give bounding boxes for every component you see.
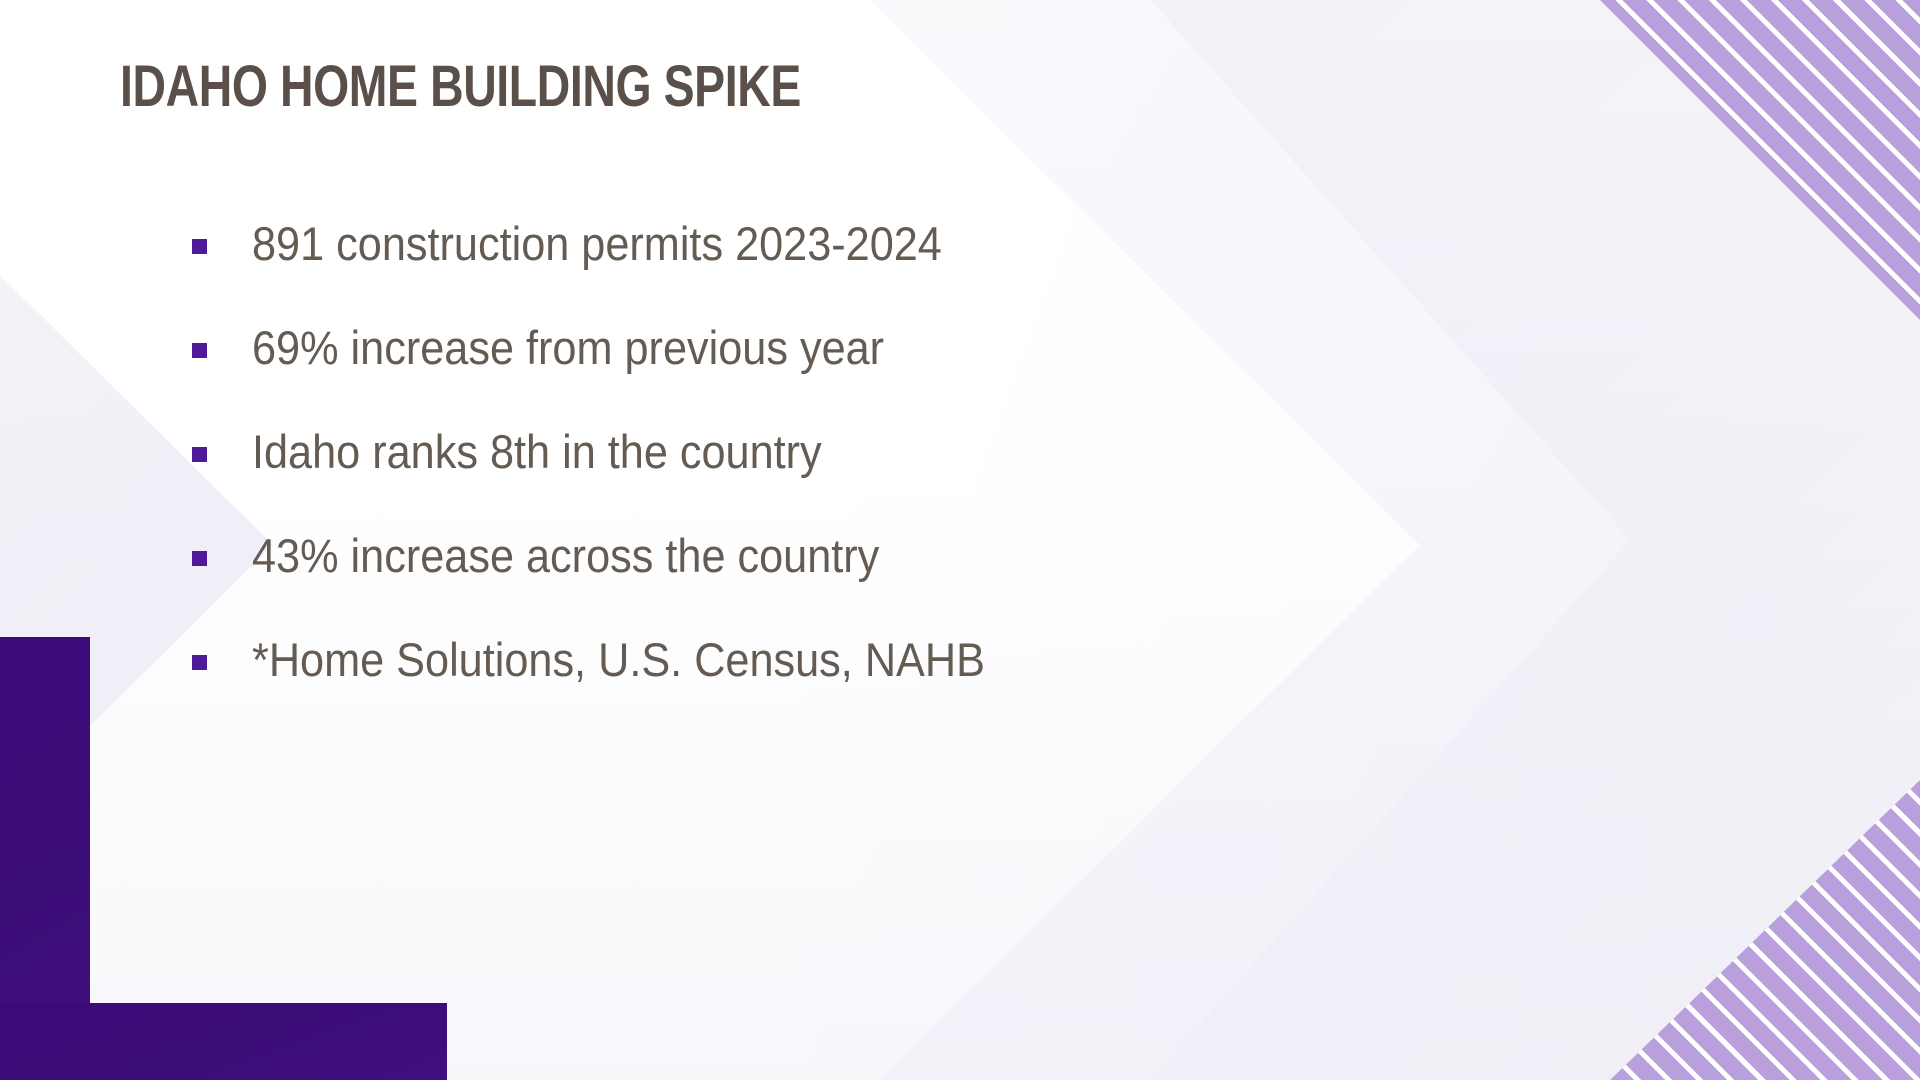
slide-content: IDAHO HOME BUILDING SPIKE 891 constructi… bbox=[0, 0, 1920, 1080]
list-item: Idaho ranks 8th in the country bbox=[192, 400, 1442, 504]
list-item-label: 69% increase from previous year bbox=[252, 322, 884, 374]
list-item: 69% increase from previous year bbox=[192, 296, 1442, 400]
list-item-label: 43% increase across the country bbox=[252, 530, 879, 582]
square-bullet-icon bbox=[192, 447, 207, 462]
square-bullet-icon bbox=[192, 655, 207, 670]
list-item-label: 891 construction permits 2023-2024 bbox=[252, 218, 942, 270]
list-item: 891 construction permits 2023-2024 bbox=[192, 192, 1442, 296]
slide-canvas: IDAHO HOME BUILDING SPIKE 891 constructi… bbox=[0, 0, 1920, 1080]
list-item: *Home Solutions, U.S. Census, NAHB bbox=[192, 608, 1442, 712]
square-bullet-icon bbox=[192, 551, 207, 566]
list-item-label: *Home Solutions, U.S. Census, NAHB bbox=[252, 634, 985, 686]
bullet-list: 891 construction permits 2023-2024 69% i… bbox=[192, 192, 1442, 712]
square-bullet-icon bbox=[192, 343, 207, 358]
list-item-label: Idaho ranks 8th in the country bbox=[252, 426, 822, 478]
list-item: 43% increase across the country bbox=[192, 504, 1442, 608]
square-bullet-icon bbox=[192, 239, 207, 254]
page-title: IDAHO HOME BUILDING SPIKE bbox=[120, 57, 801, 118]
